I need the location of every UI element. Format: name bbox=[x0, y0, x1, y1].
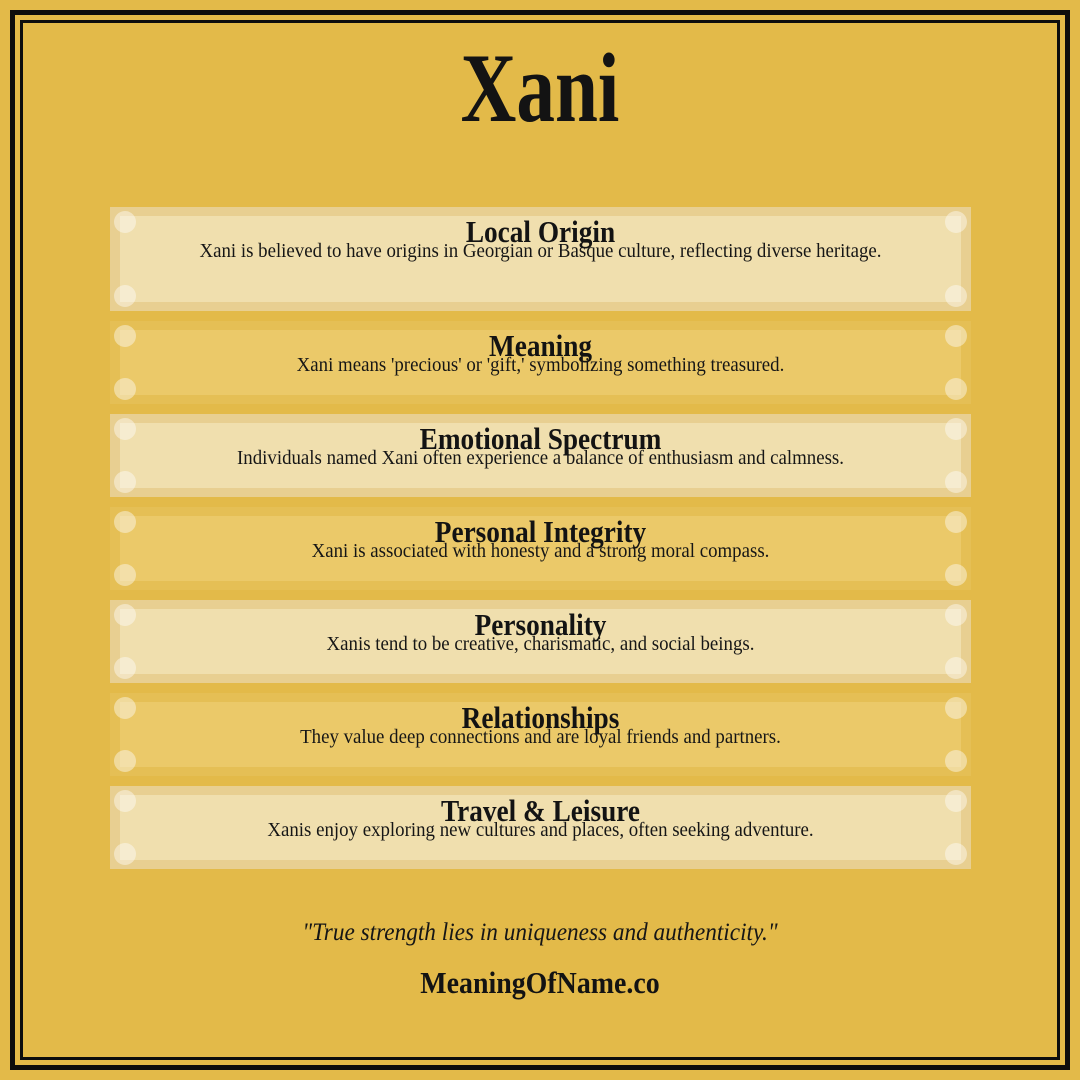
info-card-body: Local OriginXani is believed to have ori… bbox=[128, 207, 953, 311]
page-title: Xani bbox=[137, 39, 944, 138]
info-card-body: MeaningXani means 'precious' or 'gift,' … bbox=[128, 321, 953, 404]
info-card: Travel & LeisureXanis enjoy exploring ne… bbox=[110, 786, 971, 869]
info-card-text: Xani is believed to have origins in Geor… bbox=[161, 241, 920, 263]
info-card: Local OriginXani is believed to have ori… bbox=[110, 207, 971, 311]
info-card-text: Xanis tend to be creative, charismatic, … bbox=[161, 634, 920, 656]
footer: "True strength lies in uniqueness and au… bbox=[23, 918, 1057, 1001]
info-card: PersonalityXanis tend to be creative, ch… bbox=[110, 600, 971, 683]
info-card-text: Individuals named Xani often experience … bbox=[161, 448, 920, 470]
info-card-body: PersonalityXanis tend to be creative, ch… bbox=[128, 600, 953, 683]
infographic-page: Xani Local OriginXani is believed to hav… bbox=[23, 23, 1057, 1057]
info-card: Emotional SpectrumIndividuals named Xani… bbox=[110, 414, 971, 497]
info-card-text: Xani is associated with honesty and a st… bbox=[161, 541, 920, 563]
info-card: MeaningXani means 'precious' or 'gift,' … bbox=[110, 321, 971, 404]
info-card-body: Personal IntegrityXani is associated wit… bbox=[128, 507, 953, 590]
info-card: RelationshipsThey value deep connections… bbox=[110, 693, 971, 776]
info-card-text: Xani means 'precious' or 'gift,' symboli… bbox=[161, 355, 920, 377]
footer-quote: "True strength lies in uniqueness and au… bbox=[59, 918, 1021, 948]
info-card-body: RelationshipsThey value deep connections… bbox=[128, 693, 953, 776]
info-card-body: Emotional SpectrumIndividuals named Xani… bbox=[128, 414, 953, 497]
footer-brand: MeaningOfName.co bbox=[75, 964, 1006, 1001]
info-card-body: Travel & LeisureXanis enjoy exploring ne… bbox=[128, 786, 953, 869]
info-card-text: Xanis enjoy exploring new cultures and p… bbox=[161, 820, 920, 842]
info-card-list: Local OriginXani is believed to have ori… bbox=[110, 207, 971, 879]
info-card: Personal IntegrityXani is associated wit… bbox=[110, 507, 971, 590]
info-card-text: They value deep connections and are loya… bbox=[161, 727, 920, 749]
